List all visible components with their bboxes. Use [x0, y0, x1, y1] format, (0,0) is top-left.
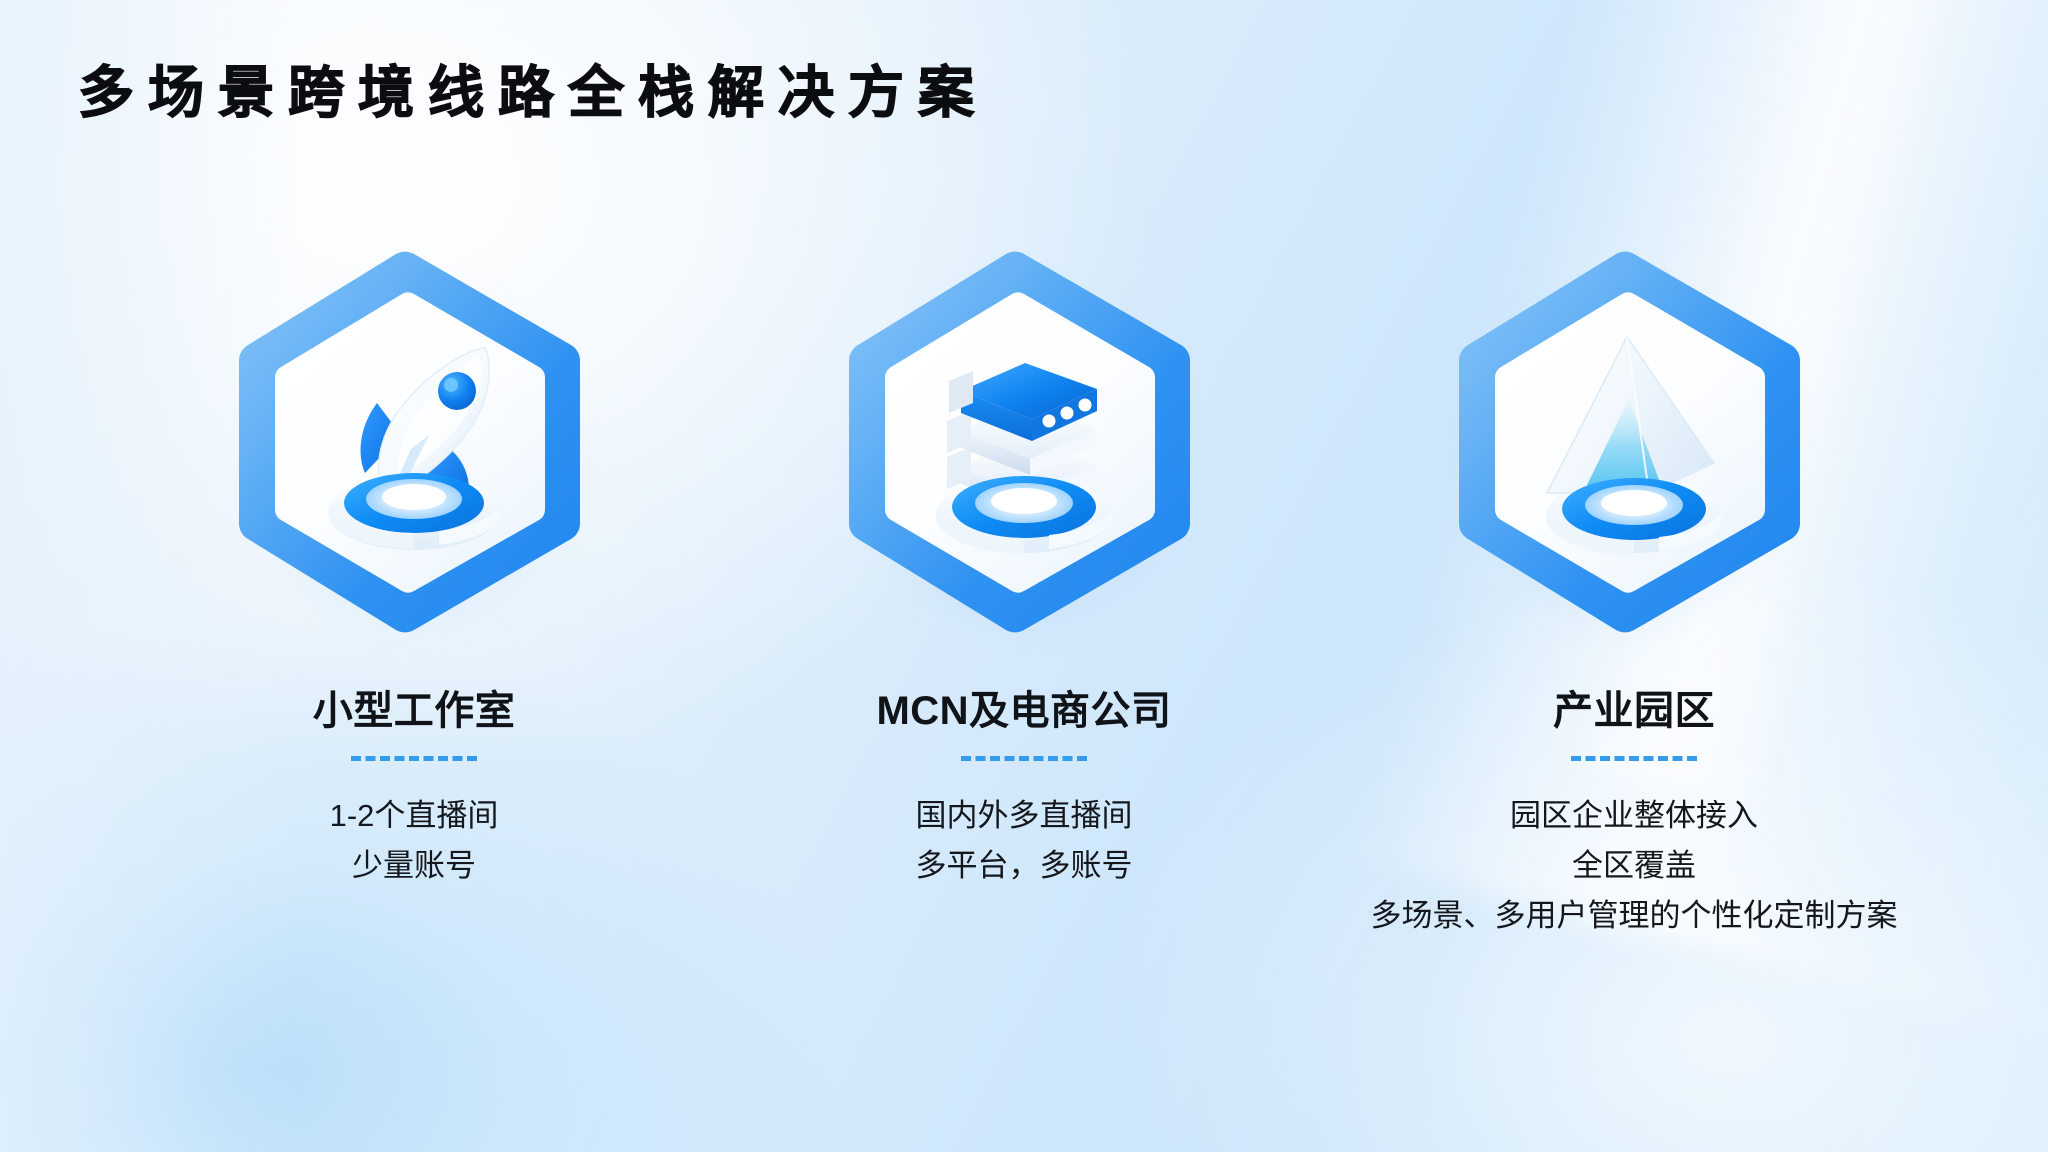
card-body-line: 园区企业整体接入	[1371, 791, 1898, 841]
card-body-line: 国内外多直播间	[916, 791, 1133, 841]
card-industrial-park[interactable]: 产业园区 园区企业整体接入 全区覆盖 多场景、多用户管理的个性化定制方案	[1404, 232, 1864, 942]
card-body-line: 全区覆盖	[1371, 841, 1898, 891]
hexagon-badge-rocket	[219, 232, 609, 652]
dashed-divider	[1571, 756, 1697, 761]
card-mcn-ecommerce[interactable]: MCN及电商公司 国内外多直播间 多平台，多账号	[794, 232, 1254, 891]
dashed-divider	[351, 756, 477, 761]
card-body: 1-2个直播间 少量账号	[330, 791, 499, 891]
card-body: 国内外多直播间 多平台，多账号	[916, 791, 1133, 891]
page-title: 多场景跨境线路全栈解决方案	[78, 62, 988, 125]
hexagon-badge-pyramid	[1439, 232, 1829, 652]
card-body: 园区企业整体接入 全区覆盖 多场景、多用户管理的个性化定制方案	[1371, 791, 1898, 942]
card-title: 产业园区	[1553, 678, 1715, 736]
card-body-line: 少量账号	[330, 841, 499, 891]
dashed-divider	[961, 756, 1087, 761]
hexagon-badge-server	[829, 232, 1219, 652]
card-body-line: 多场景、多用户管理的个性化定制方案	[1371, 891, 1898, 941]
server-stack-icon	[899, 307, 1149, 577]
card-list: 小型工作室 1-2个直播间 少量账号	[0, 232, 2048, 942]
card-body-line: 多平台，多账号	[916, 841, 1133, 891]
card-body-line: 1-2个直播间	[330, 791, 499, 841]
card-small-studio[interactable]: 小型工作室 1-2个直播间 少量账号	[184, 232, 644, 891]
slide-root: 多场景跨境线路全栈解决方案	[0, 0, 2048, 1152]
pyramid-icon	[1509, 307, 1759, 577]
rocket-icon	[289, 307, 539, 577]
card-title: MCN及电商公司	[876, 678, 1171, 736]
card-title: 小型工作室	[313, 678, 516, 736]
